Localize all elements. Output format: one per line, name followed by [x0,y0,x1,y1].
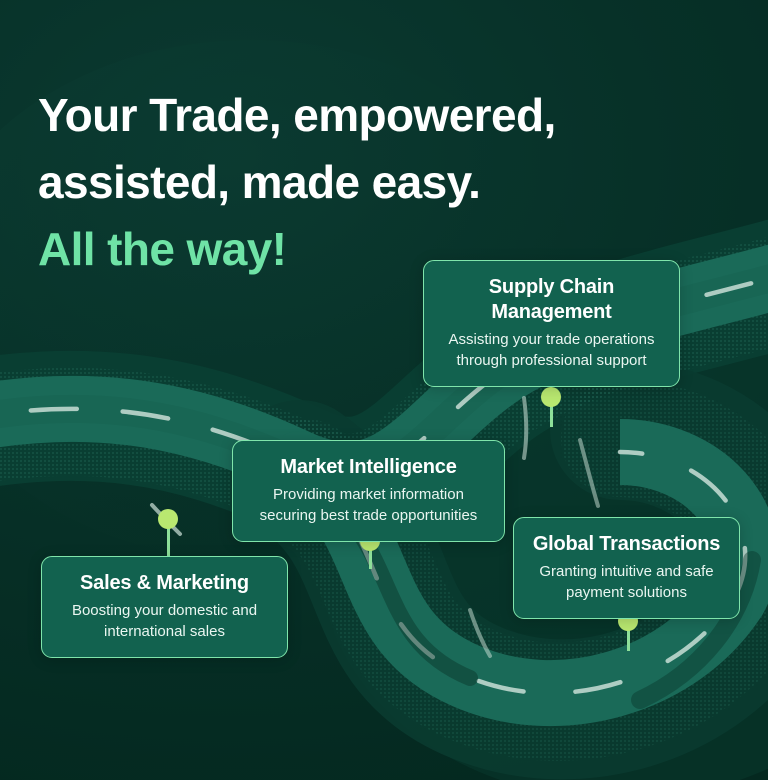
feature-card-supply-chain-management[interactable]: Supply Chain Management Assisting your t… [423,260,680,387]
feature-card-title: Supply Chain Management [440,275,663,325]
hero-banner: Your Trade, empowered, assisted, made ea… [0,0,768,780]
headline-line-2: assisted, made easy. [38,149,678,216]
page-title: Your Trade, empowered, assisted, made ea… [38,82,678,283]
feature-card-description: Providing market information securing be… [249,484,488,526]
feature-card-title: Global Transactions [530,532,723,557]
pin-head-icon [541,387,561,407]
feature-card-description: Granting intuitive and safe payment solu… [530,561,723,603]
feature-card-title: Market Intelligence [249,455,488,480]
feature-card-sales-and-marketing[interactable]: Sales & Marketing Boosting your domestic… [41,556,288,658]
feature-card-description: Boosting your domestic and international… [58,600,271,642]
pin-head-icon [158,509,178,529]
feature-card-market-intelligence[interactable]: Market Intelligence Providing market inf… [232,440,505,542]
feature-card-title: Sales & Marketing [58,571,271,596]
feature-card-global-transactions[interactable]: Global Transactions Granting intuitive a… [513,517,740,619]
headline-line-1: Your Trade, empowered, [38,82,678,149]
feature-card-description: Assisting your trade operations through … [440,329,663,371]
